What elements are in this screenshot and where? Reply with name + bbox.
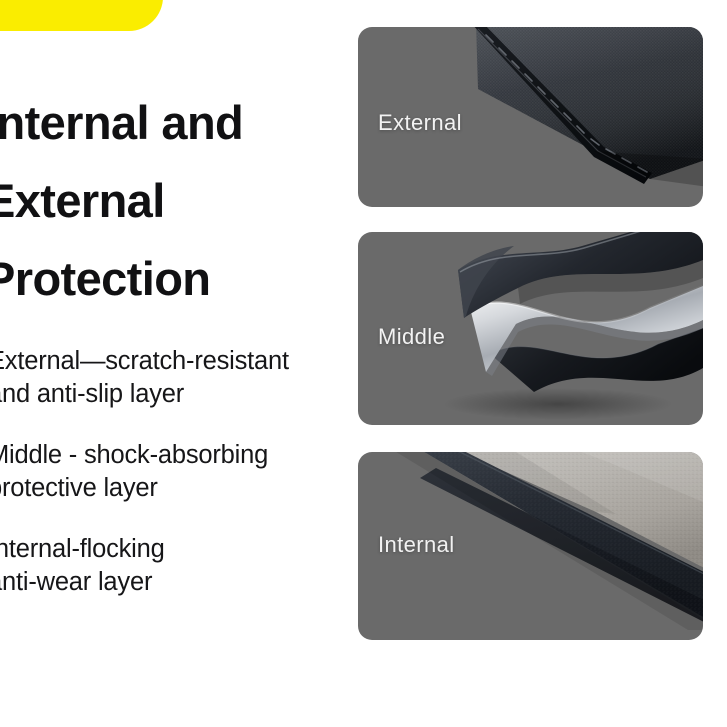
card-middle: Middle [358, 232, 703, 425]
headline-line-2: External [0, 162, 356, 240]
card-label-middle: Middle [378, 324, 445, 350]
card-label-external: External [378, 110, 462, 136]
feature-middle-line-2: protective layer [0, 472, 354, 505]
feature-external-line-2: and anti-slip layer [0, 378, 354, 411]
product-photo-cards: External [358, 0, 727, 727]
feature-item-external: External—scratch-resistant and anti-slip… [0, 345, 354, 411]
feature-middle-line-1: Middle - shock-absorbing [0, 439, 354, 472]
feature-item-internal: Internal-flocking anti-wear layer [0, 533, 354, 599]
feature-list: External—scratch-resistant and anti-slip… [0, 345, 354, 599]
product-feature-infographic: Internal and External Protection Externa… [0, 0, 727, 727]
feature-internal-line-1: Internal-flocking [0, 533, 354, 566]
card-internal: Internal [358, 452, 703, 640]
headline-line-3: Protection [0, 240, 356, 318]
card-label-internal: Internal [378, 532, 455, 558]
text-column: Internal and External Protection Externa… [0, 0, 352, 727]
page-title: Internal and External Protection [0, 84, 356, 318]
card-external: External [358, 27, 703, 207]
headline-line-1: Internal and [0, 84, 356, 162]
feature-external-line-1: External—scratch-resistant [0, 345, 354, 378]
feature-internal-line-2: anti-wear layer [0, 566, 354, 599]
feature-item-middle: Middle - shock-absorbing protective laye… [0, 439, 354, 505]
